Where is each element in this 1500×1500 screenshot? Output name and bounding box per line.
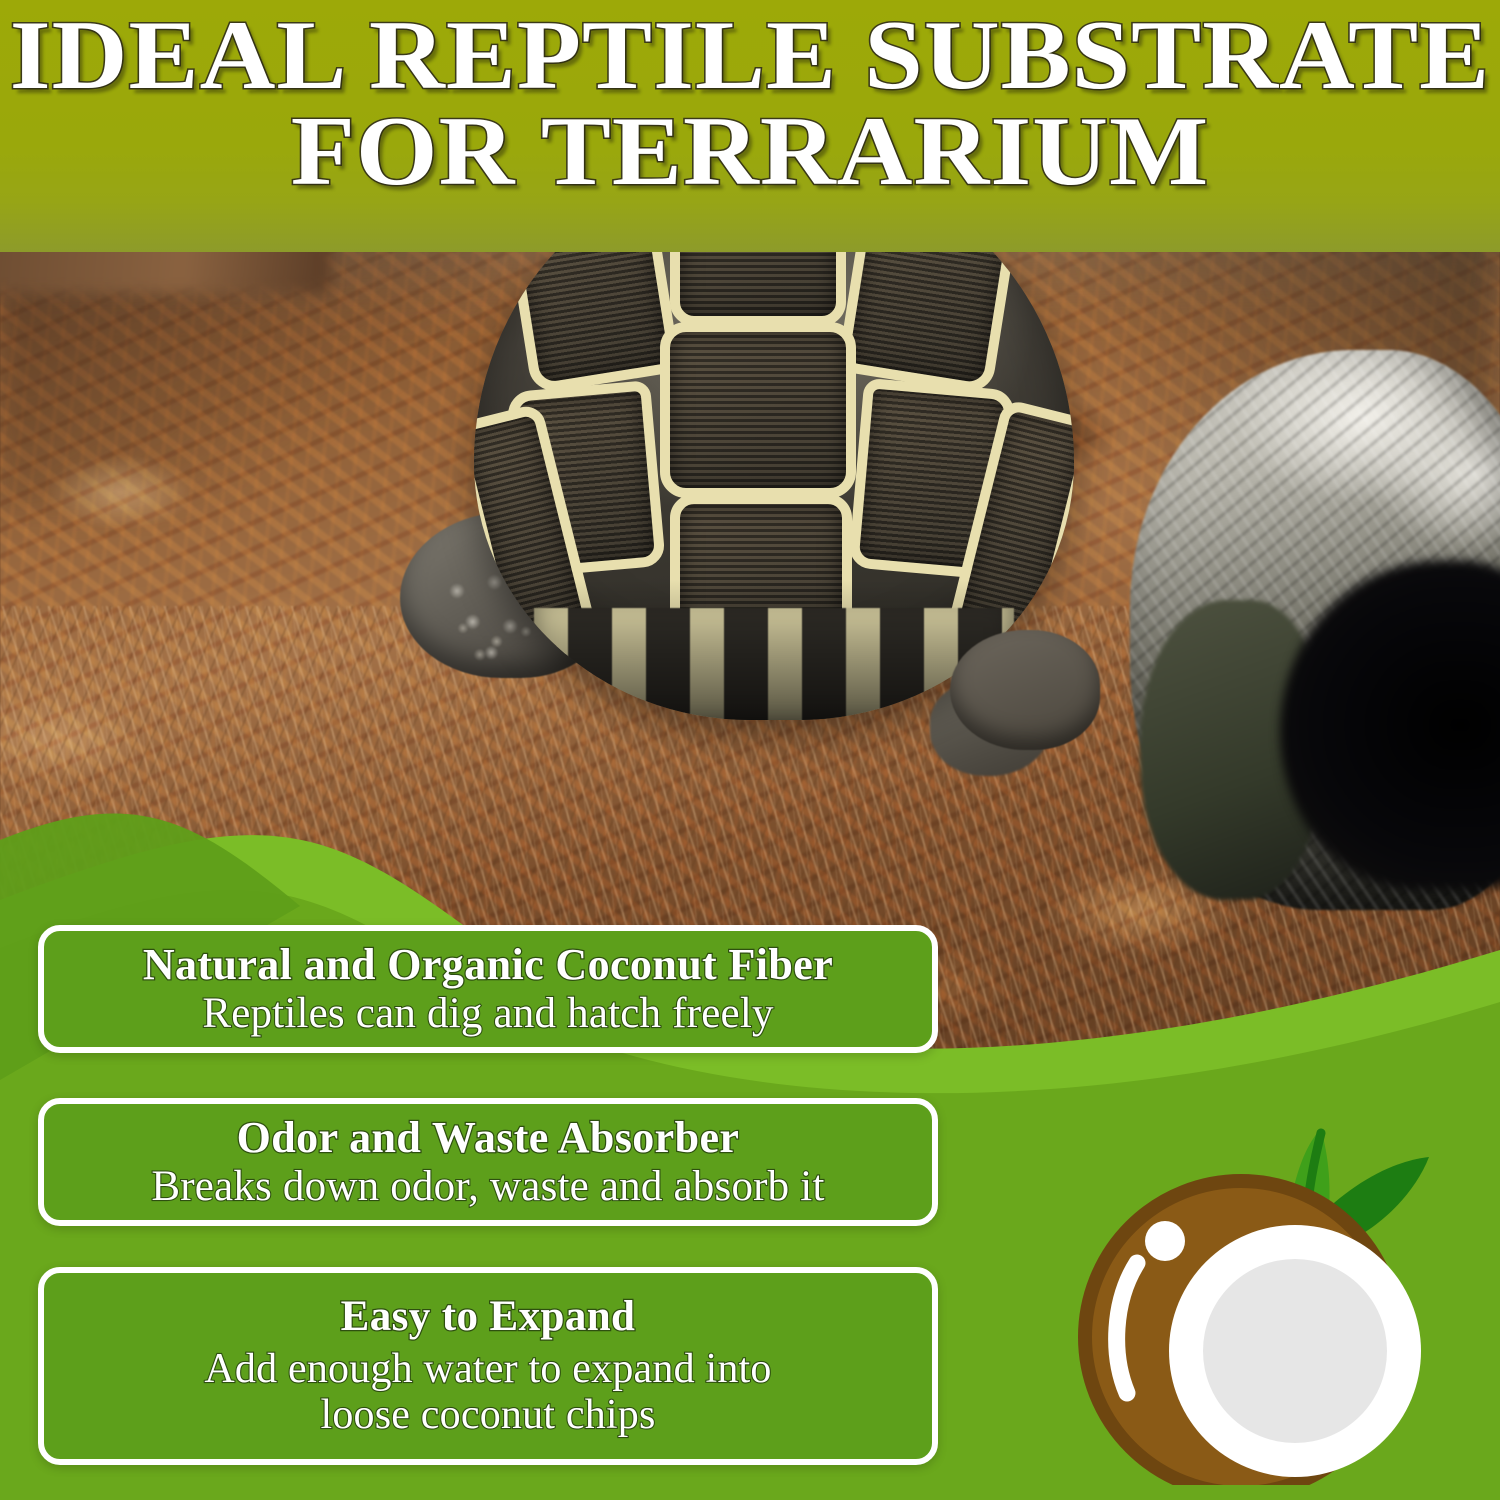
rock-hide bbox=[1130, 350, 1500, 910]
header-band bbox=[0, 0, 1500, 252]
tortoise bbox=[430, 160, 1110, 800]
tortoise-scute bbox=[660, 322, 856, 498]
feature-2-subtitle: Breaks down odor, waste and absorb it bbox=[62, 1163, 914, 1210]
feature-3-subtitle-line-1: Add enough water to expand into bbox=[62, 1346, 914, 1392]
coconut-flesh-inner bbox=[1203, 1259, 1387, 1443]
feature-3-title: Easy to Expand bbox=[62, 1294, 914, 1340]
coconut-highlight-dot bbox=[1145, 1221, 1185, 1261]
coconut-icon bbox=[1045, 1105, 1465, 1485]
feature-1-subtitle: Reptiles can dig and hatch freely bbox=[62, 990, 914, 1037]
feature-3-subtitle-line-2: loose coconut chips bbox=[62, 1392, 914, 1438]
infographic-canvas: IDEAL REPTILE SUBSTRATE FOR TERRARIUM Na… bbox=[0, 0, 1500, 1500]
feature-1-title: Natural and Organic Coconut Fiber bbox=[62, 941, 914, 989]
tortoise-head bbox=[950, 630, 1100, 750]
feature-box-1[interactable]: Natural and Organic Coconut Fiber Reptil… bbox=[38, 925, 938, 1053]
feature-box-3[interactable]: Easy to Expand Add enough water to expan… bbox=[38, 1267, 938, 1465]
feature-box-2[interactable]: Odor and Waste Absorber Breaks down odor… bbox=[38, 1098, 938, 1226]
feature-2-title: Odor and Waste Absorber bbox=[62, 1114, 914, 1162]
